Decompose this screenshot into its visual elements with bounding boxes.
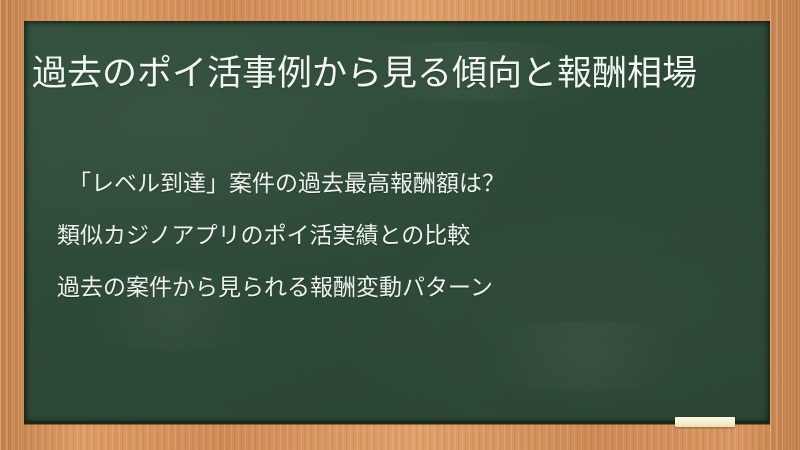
- frame-left-rail: [0, 0, 24, 450]
- page-title: 過去のポイ活事例から見る傾向と報酬相場: [32, 51, 742, 97]
- list-item: 「レベル到達」案件の過去最高報酬額は？: [57, 157, 747, 209]
- list-item: 過去の案件から見られる報酬変動パターン: [57, 261, 747, 313]
- frame-right-rail: [770, 0, 800, 450]
- chalkboard-surface: 過去のポイ活事例から見る傾向と報酬相場 「レベル到達」案件の過去最高報酬額は？ …: [24, 21, 770, 424]
- board-text-area: 過去のポイ活事例から見る傾向と報酬相場 「レベル到達」案件の過去最高報酬額は？ …: [24, 21, 770, 424]
- blackboard-frame: 過去のポイ活事例から見る傾向と報酬相場 「レベル到達」案件の過去最高報酬額は？ …: [0, 0, 800, 450]
- list-item: 類似カジノアプリのポイ活実績との比較: [57, 209, 747, 261]
- bullet-list: 「レベル到達」案件の過去最高報酬額は？ 類似カジノアプリのポイ活実績との比較 過…: [57, 157, 747, 313]
- chalk-stick: [675, 417, 735, 427]
- board-bottom-edge-shadow: [24, 421, 770, 425]
